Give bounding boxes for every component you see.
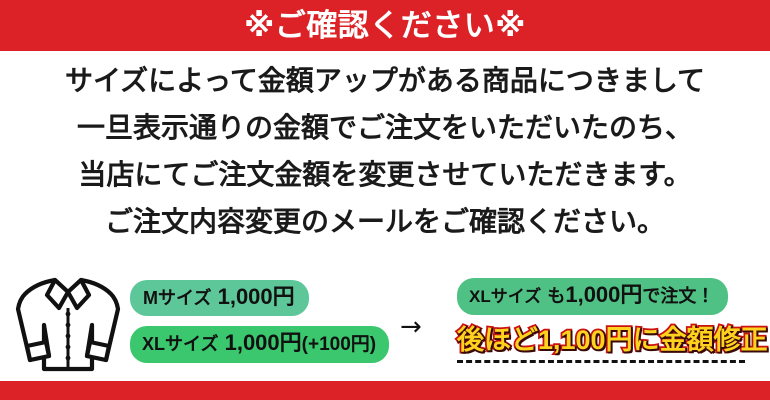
order-price: 1,000円 — [565, 282, 642, 307]
right-arrow-icon: → — [400, 314, 422, 340]
xl-order-price-badge: XLサイズ も1,000円で注文！ — [457, 278, 728, 315]
xl-size-price: 1,000円 — [225, 330, 302, 355]
xl-size-surcharge: (+100円) — [302, 334, 376, 355]
price-comparison-block: Mサイズ 1,000円 XLサイズ 1,000円(+100円) → XLサイズ … — [0, 268, 770, 380]
xl-size-price-badge: XLサイズ 1,000円(+100円) — [130, 326, 389, 363]
body-line-2: 一旦表示通りの金額でご注文をいただいたのち、 — [0, 104, 770, 151]
body-line-3: 当店にてご注文金額を変更させていただきます。 — [0, 151, 770, 198]
order-suffix: で注文！ — [642, 286, 714, 306]
notice-banner: ※ご確認ください※ サイズによって金額アップがある商品につきまして 一旦表示通り… — [0, 0, 770, 400]
order-particle: も — [547, 286, 565, 306]
body-line-1: サイズによって金額アップがある商品につきまして — [0, 57, 770, 104]
header-bar: ※ご確認ください※ — [0, 0, 770, 51]
body-text-block: サイズによって金額アップがある商品につきまして 一旦表示通りの金額でご注文をいた… — [0, 57, 770, 245]
xl-size-label: XLサイズ — [142, 334, 218, 354]
m-size-price-badge: Mサイズ 1,000円 — [130, 280, 309, 316]
m-size-label: Mサイズ — [143, 288, 211, 308]
page-title: ※ご確認ください※ — [244, 10, 526, 41]
m-size-price: 1,000円 — [218, 284, 295, 309]
order-size-label: XLサイズ — [469, 287, 541, 306]
dashed-underline — [457, 360, 745, 363]
price-correction-notice: 後ほど1,100円に金額修正 — [457, 323, 757, 357]
footer-bar — [0, 381, 770, 400]
dress-shirt-icon — [14, 270, 122, 376]
body-line-4: ご注文内容変更のメールをご確認ください。 — [0, 198, 770, 245]
before-price-badges: Mサイズ 1,000円 XLサイズ 1,000円(+100円) — [130, 280, 392, 363]
after-price-block: XLサイズ も1,000円で注文！ 後ほど1,100円に金額修正 — [457, 278, 757, 363]
